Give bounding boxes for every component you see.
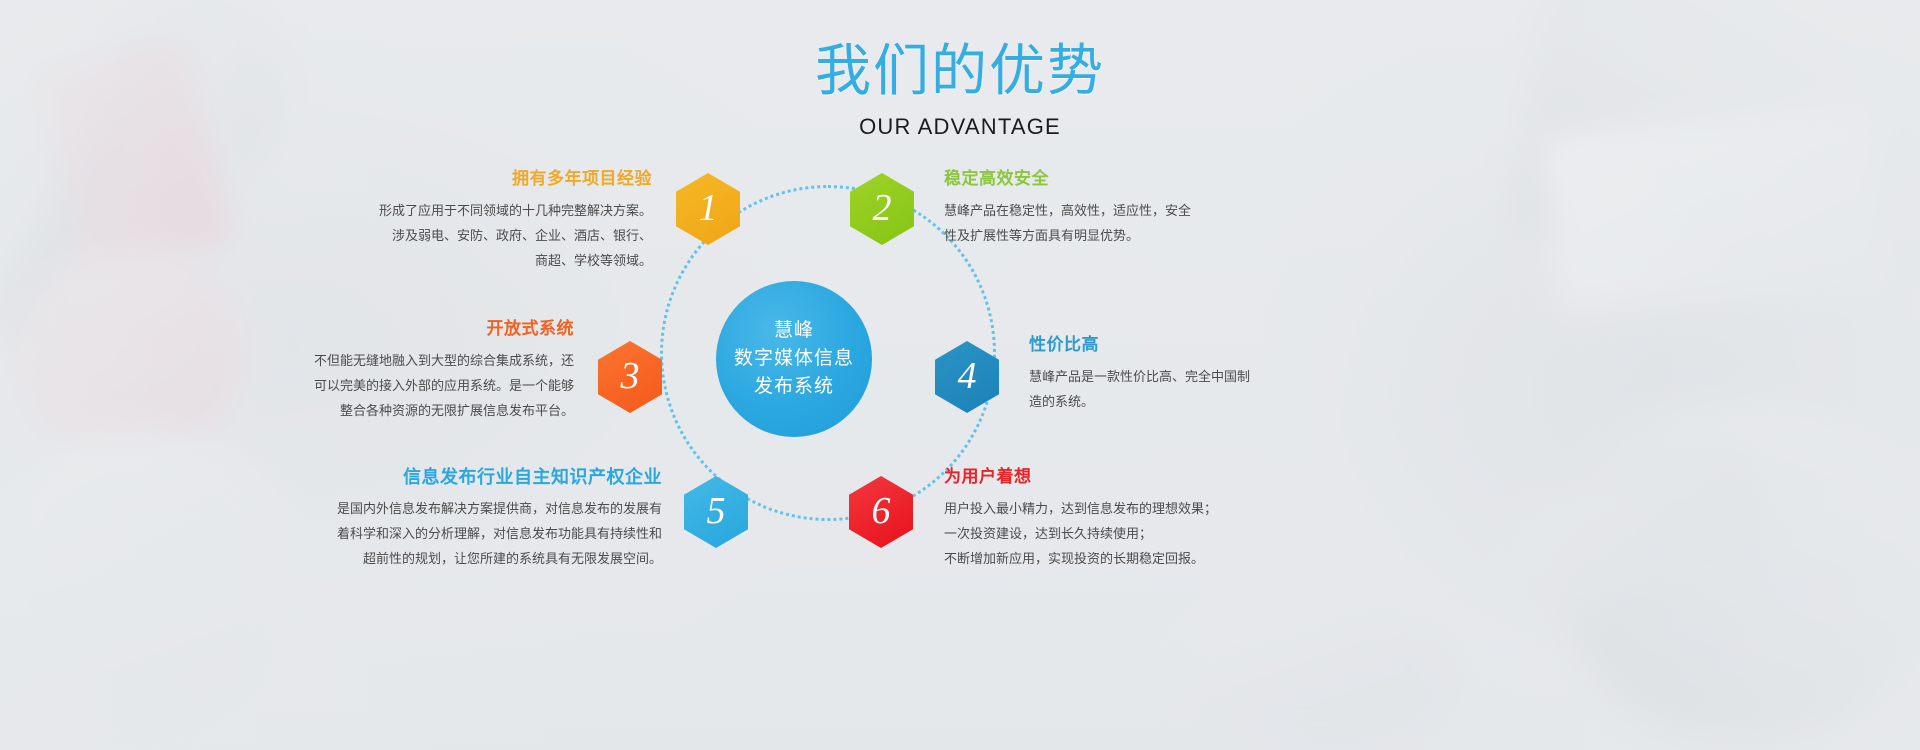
advantage-body-line-5-3: 超前性的规划，让您所建的系统具有无限发展空间。 [280, 546, 662, 571]
center-line-1: 慧峰 [774, 317, 814, 345]
advantage-body-line-1-1: 形成了应用于不同领域的十几种完整解决方案。 [290, 198, 652, 223]
hexagon-number-2: 2 [873, 189, 892, 227]
page-subtitle: OUR ADVANTAGE [0, 113, 1920, 141]
advantage-body-line-3-1: 不但能无缝地融入到大型的综合集成系统，还 [230, 348, 574, 373]
advantage-body-line-5-2: 着科学和深入的分析理解，对信息发布功能具有持续性和 [280, 521, 662, 546]
hexagon-number-6: 6 [872, 492, 891, 530]
center-line-3: 发布系统 [754, 373, 834, 401]
advantage-body-line-4-2: 造的系统。 [1029, 389, 1349, 414]
page-title: 我们的优势 [0, 40, 1920, 102]
advantage-body-line-6-1: 用户投入最小精力，达到信息发布的理想效果； [944, 496, 1344, 521]
advantage-item-4: 性价比高 慧峰产品是一款性价比高、完全中国制 造的系统。 [1029, 334, 1349, 414]
advantage-title-5: 信息发布行业自主知识产权企业 [280, 466, 662, 488]
hexagon-number-5: 5 [707, 492, 726, 530]
center-circle: 慧峰 数字媒体信息 发布系统 [716, 281, 872, 437]
advantage-body-line-1-3: 商超、学校等领域。 [290, 248, 652, 273]
advantage-body-line-4-1: 慧峰产品是一款性价比高、完全中国制 [1029, 364, 1349, 389]
advantage-item-2: 稳定高效安全 慧峰产品在稳定性，高效性，适应性，安全 性及扩展性等方面具有明显优… [944, 168, 1344, 248]
advantage-body-line-2-2: 性及扩展性等方面具有明显优势。 [944, 223, 1344, 248]
hexagon-number-1: 1 [699, 189, 718, 227]
hexagon-badge-3: 3 [598, 341, 662, 413]
center-line-2: 数字媒体信息 [734, 345, 854, 373]
advantage-title-2: 稳定高效安全 [944, 168, 1344, 190]
advantage-title-3: 开放式系统 [230, 318, 574, 340]
hexagon-number-4: 4 [958, 357, 977, 395]
advantage-body-line-6-2: 一次投资建设，达到长久持续使用； [944, 521, 1344, 546]
advantage-title-6: 为用户着想 [944, 466, 1344, 488]
hexagon-number-3: 3 [621, 357, 640, 395]
advantage-body-line-1-2: 涉及弱电、安防、政府、企业、酒店、银行、 [290, 223, 652, 248]
advantage-body-line-6-3: 不断增加新应用，实现投资的长期稳定回报。 [944, 546, 1344, 571]
advantage-title-1: 拥有多年项目经验 [290, 168, 652, 190]
advantage-item-1: 拥有多年项目经验 形成了应用于不同领域的十几种完整解决方案。 涉及弱电、安防、政… [290, 168, 652, 273]
advantage-item-3: 开放式系统 不但能无缝地融入到大型的综合集成系统，还 可以完美的接入外部的应用系… [230, 318, 574, 423]
advantage-body-line-2-1: 慧峰产品在稳定性，高效性，适应性，安全 [944, 198, 1344, 223]
advantage-item-5: 信息发布行业自主知识产权企业 是国内外信息发布解决方案提供商，对信息发布的发展有… [280, 466, 662, 571]
advantage-body-line-3-2: 可以完美的接入外部的应用系统。是一个能够 [230, 373, 574, 398]
advantage-body-line-5-1: 是国内外信息发布解决方案提供商，对信息发布的发展有 [280, 496, 662, 521]
advantage-item-6: 为用户着想 用户投入最小精力，达到信息发布的理想效果； 一次投资建设，达到长久持… [944, 466, 1344, 571]
advantage-title-4: 性价比高 [1029, 334, 1349, 356]
advantage-body-line-3-3: 整合各种资源的无限扩展信息发布平台。 [230, 398, 574, 423]
